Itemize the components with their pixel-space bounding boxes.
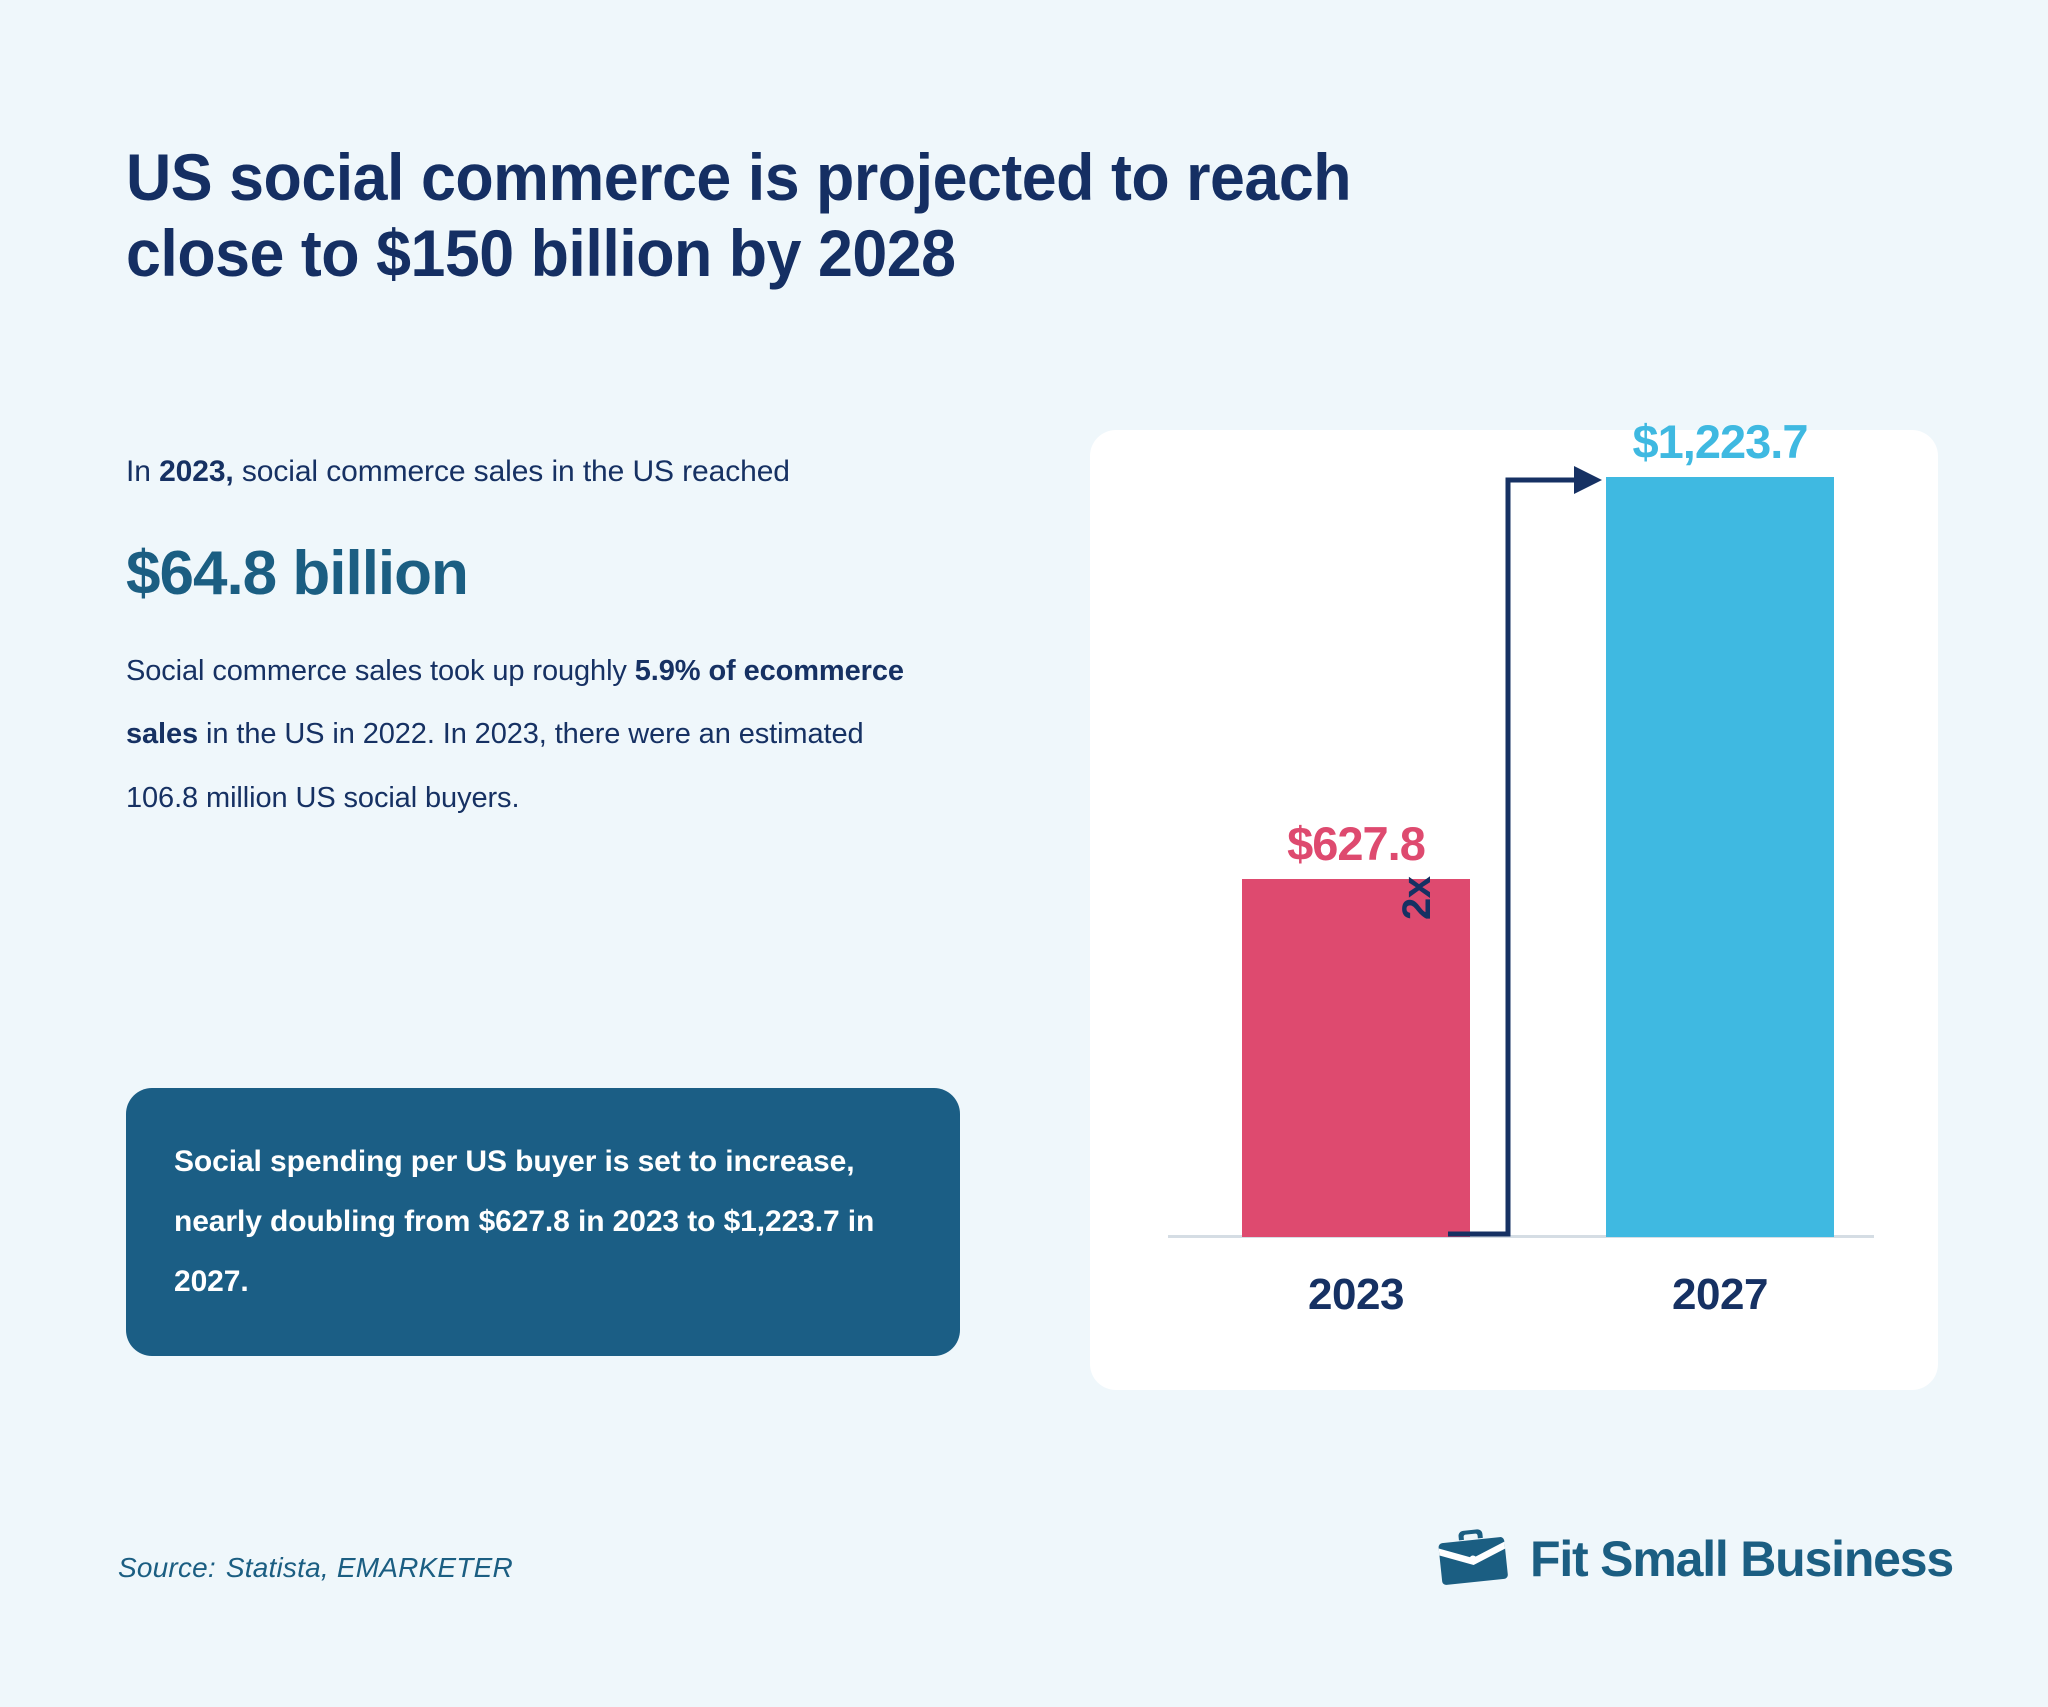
title-line-1: US social commerce is projected to reach (126, 140, 1836, 216)
lead-paragraph: In 2023, social commerce sales in the US… (126, 440, 926, 503)
lead-suffix: social commerce sales in the US reached (234, 455, 790, 488)
lead-bold-year: 2023, (159, 455, 234, 488)
callout-box: Social spending per US buyer is set to i… (126, 1088, 960, 1356)
bar-chart: $627.8 $1,223.7 2x 2023 2027 (1090, 430, 1938, 1390)
logo-wordmark: Fit Small Business (1530, 1534, 1953, 1584)
source-value: Statista, EMARKETER (226, 1552, 513, 1583)
chart-card: $627.8 $1,223.7 2x 2023 2027 (1090, 430, 1938, 1390)
bar-2023 (1242, 879, 1470, 1237)
source-attribution: Source:Statista, EMARKETER (118, 1552, 513, 1584)
page-title: US social commerce is projected to reach… (126, 140, 1836, 292)
left-content-column: In 2023, social commerce sales in the US… (126, 410, 926, 859)
briefcase-icon (1434, 1528, 1512, 1590)
x-axis-label-2027: 2027 (1606, 1270, 1834, 1320)
growth-bracket-arrow (1448, 462, 1618, 1237)
body-prefix: Social commerce sales took up roughly (126, 655, 635, 687)
callout-text: Social spending per US buyer is set to i… (174, 1145, 874, 1298)
headline-statistic: $64.8 billion (126, 541, 926, 606)
bar-2027 (1606, 477, 1834, 1237)
title-line-2: close to $150 billion by 2028 (126, 216, 1836, 292)
bar-value-label-2023: $627.8 (1242, 816, 1470, 871)
x-axis-label-2023: 2023 (1242, 1270, 1470, 1320)
brand-logo: Fit Small Business (1434, 1528, 1953, 1590)
infographic-canvas: US social commerce is projected to reach… (0, 0, 2048, 1707)
body-suffix: in the US in 2022. In 2023, there were a… (126, 718, 864, 813)
body-paragraph: Social commerce sales took up roughly 5.… (126, 640, 916, 830)
lead-prefix: In (126, 455, 159, 488)
source-label: Source: (118, 1552, 216, 1583)
multiplier-annotation: 2x (1395, 877, 1440, 921)
bar-value-label-2027: $1,223.7 (1588, 414, 1852, 469)
